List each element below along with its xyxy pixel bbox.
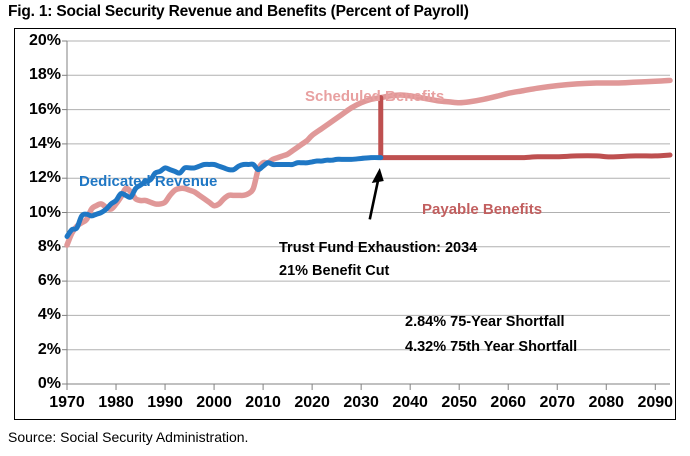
series-line-payable-benefits	[381, 98, 670, 158]
x-axis-tick-label: 2060	[482, 394, 534, 412]
y-axis-tick-label: 2%	[19, 341, 61, 359]
page-title: Fig. 1: Social Security Revenue and Bene…	[8, 3, 469, 21]
x-axis-tick-label: 2090	[629, 394, 676, 412]
x-axis-tick-label: 2040	[384, 394, 436, 412]
annotation-shortfall-75th-year: 4.32% 75th Year Shortfall	[405, 339, 577, 355]
annotation-benefit-cut: 21% Benefit Cut	[279, 263, 389, 279]
y-axis-tick-label: 6%	[19, 272, 61, 290]
series-label-payable-benefits: Payable Benefits	[422, 201, 542, 218]
x-axis-tick-label: 2080	[580, 394, 632, 412]
callout-arrow	[370, 168, 384, 219]
y-axis-tick-label: 0%	[19, 375, 61, 393]
x-axis-tick-label: 2000	[188, 394, 240, 412]
y-axis-tick-label: 16%	[19, 101, 61, 119]
x-axis-ticks	[67, 384, 655, 390]
y-axis-tick-label: 10%	[19, 204, 61, 222]
y-axis-tick-label: 8%	[19, 238, 61, 256]
x-axis-tick-label: 1980	[90, 394, 142, 412]
source-note: Source: Social Security Administration.	[8, 429, 248, 445]
data-series-layer	[67, 80, 670, 245]
figure-root: Fig. 1: Social Security Revenue and Bene…	[0, 0, 690, 456]
x-axis-tick-label: 1990	[139, 394, 191, 412]
y-axis-tick-label: 18%	[19, 66, 61, 84]
x-axis-tick-label: 1970	[41, 394, 93, 412]
x-axis-tick-label: 2050	[433, 394, 485, 412]
x-axis-tick-label: 2020	[286, 394, 338, 412]
x-axis-tick-label: 2010	[237, 394, 289, 412]
y-axis-tick-label: 20%	[19, 32, 61, 50]
chart-frame: 0%2%4%6%8%10%12%14%16%18%20% 19701980199…	[14, 28, 676, 420]
x-axis-tick-label: 2030	[335, 394, 387, 412]
y-axis-tick-label: 4%	[19, 306, 61, 324]
series-label-dedicated-revenue: Dedicated Revenue	[79, 173, 217, 190]
x-axis-tick-label: 2070	[531, 394, 583, 412]
y-axis-tick-label: 12%	[19, 169, 61, 187]
y-axis-tick-label: 14%	[19, 135, 61, 153]
series-line-scheduled-benefits	[67, 80, 670, 245]
annotation-trust-fund-exhaustion: Trust Fund Exhaustion: 2034	[279, 240, 477, 256]
annotation-shortfall-75-year: 2.84% 75-Year Shortfall	[405, 314, 565, 330]
series-label-scheduled-benefits: Scheduled Benefits	[305, 88, 444, 105]
y-axis-ticks	[62, 41, 67, 384]
